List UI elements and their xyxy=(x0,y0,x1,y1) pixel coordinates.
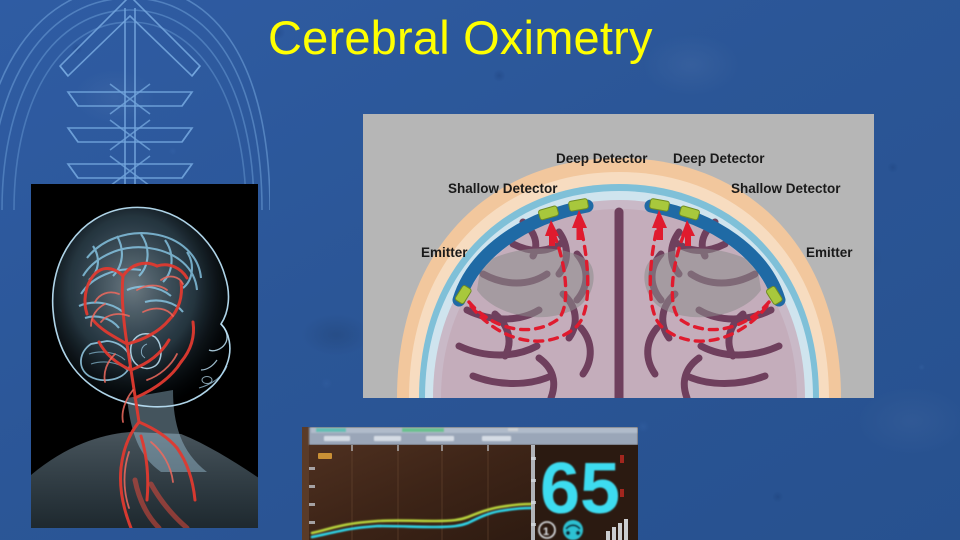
channel-marker: 1 xyxy=(543,526,549,538)
cerebral-oximeter-monitor-photo: 65 1 xyxy=(302,427,638,540)
chevron-arrow-watermark xyxy=(0,0,270,210)
label-shallow-detector-left: Shallow Detector xyxy=(448,181,558,196)
label-deep-detector-left: Deep Detector xyxy=(556,151,648,166)
oximetry-value: 65 xyxy=(540,449,620,529)
label-emitter-right: Emitter xyxy=(806,245,853,260)
slide-canvas: Cerebral Oximetry xyxy=(0,0,960,540)
label-emitter-left: Emitter xyxy=(421,245,468,260)
slide-title: Cerebral Oximetry xyxy=(268,12,653,64)
label-shallow-detector-right: Shallow Detector xyxy=(731,181,841,196)
nirs-sensor-diagram: Shallow Detector Deep Detector Emitter D… xyxy=(363,114,874,398)
head-anatomy-image xyxy=(31,184,258,528)
sensor-status-icon xyxy=(563,520,583,540)
label-deep-detector-right: Deep Detector xyxy=(673,151,765,166)
